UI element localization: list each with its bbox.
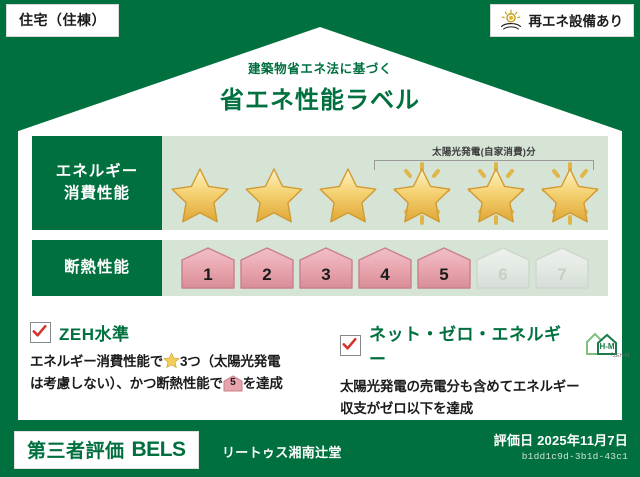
insulation-label-text: 断熱性能: [64, 257, 130, 279]
star-4: [386, 160, 458, 228]
evaluation-date: 評価日 2025年11月7日: [494, 430, 628, 449]
net-zero-title: ネット・ゼロ・エネルギー: [369, 320, 574, 370]
renewable-badge-text: 再エネ設備あり: [529, 10, 624, 30]
star-5: [460, 160, 532, 228]
bels-jp-text: 第三者評価: [27, 436, 125, 463]
criteria-section: ZEH水準 エネルギー消費性能で 3つ（太陽光発電 は考慮しない）、かつ断熱性能…: [0, 320, 640, 420]
label-title-block: 建築物省エネ法に基づく 省エネ性能ラベル: [0, 58, 640, 115]
star-2: [238, 160, 310, 228]
inline-grade-badge: 5: [223, 375, 243, 392]
net-zero-text-line2: 収支がゼロ以下を達成: [340, 401, 473, 416]
renewable-equipment-badge: 再エネ設備あり: [490, 4, 635, 37]
title-main: 省エネ性能ラベル: [0, 80, 640, 115]
zeh-star-count: 3つ（太陽光発電: [180, 354, 280, 369]
zeh-title: ZEH水準: [59, 320, 130, 345]
net-zero-text-line1: 太陽光発電の売電分も含めてエネルギー: [340, 379, 579, 394]
zeh-text-part1: エネルギー消費性能で: [30, 354, 163, 369]
property-name: リートゥス湘南辻堂: [222, 442, 342, 461]
insulation-grade-value: 1: [203, 265, 212, 290]
evaluation-date-label: 評価日: [494, 433, 534, 448]
insulation-grade-5: 5: [416, 246, 472, 290]
bels-badge: 第三者評価 BELS: [14, 431, 199, 469]
net-zero-checkbox: [340, 335, 361, 356]
title-subtitle: 建築物省エネ法に基づく: [0, 58, 640, 77]
criteria-zeh: ZEH水準 エネルギー消費性能で 3つ（太陽光発電 は考慮しない）、かつ断熱性能…: [30, 320, 330, 420]
evaluation-date-value: 2025年11月7日: [537, 433, 628, 448]
insulation-grade-1: 1: [180, 246, 236, 290]
insulation-grade-3: 3: [298, 246, 354, 290]
star-1: [164, 160, 236, 228]
insulation-grade-value: 4: [380, 265, 389, 290]
net-zero-description: 太陽光発電の売電分も含めてエネルギー 収支がゼロ以下を達成: [340, 376, 630, 420]
energy-label-line2: 消費性能: [64, 183, 130, 205]
check-icon: [32, 324, 47, 339]
insulation-grade-6: 6: [475, 246, 531, 290]
insulation-grade-7: 7: [534, 246, 590, 290]
insulation-grade-value: 5: [439, 265, 448, 290]
criteria-net-zero: ネット・ゼロ・エネルギー H-M 「ZEH-M」 太陽光発電の売電分も含めてエネ…: [340, 320, 630, 420]
insulation-grade-value: 7: [557, 265, 566, 290]
solar-bracket-note: 太陽光発電(自家消費)分: [370, 144, 598, 158]
zeh-text-part2: は考慮しない）、かつ断熱性能で: [30, 376, 223, 391]
sun-icon: [499, 9, 523, 31]
inline-star-icon: [163, 352, 180, 369]
insulation-grade-scale: 1234567: [162, 240, 608, 296]
bels-en-text: BELS: [132, 438, 186, 462]
criteria-zeh-header: ZEH水準: [30, 320, 330, 345]
energy-performance-label-cell: エネルギー 消費性能: [32, 136, 162, 230]
insulation-grade-value: 2: [262, 265, 271, 290]
check-icon: [342, 337, 357, 352]
zeh-m-logo-caption: 「ZEH-M」: [608, 353, 630, 359]
building-type-tag: 住宅（住棟）: [6, 4, 119, 37]
insulation-performance-row: 断熱性能 1234567: [32, 240, 608, 296]
inline-grade-value: 5: [223, 375, 243, 392]
evaluation-id: b1dd1c9d-3b1d-43c1: [494, 451, 628, 462]
star-3: [312, 160, 384, 228]
insulation-label-cell: 断熱性能: [32, 240, 162, 296]
insulation-grade-2: 2: [239, 246, 295, 290]
insulation-grade-value: 3: [321, 265, 330, 290]
insulation-value-cell: 1234567: [162, 240, 608, 296]
criteria-net-zero-header: ネット・ゼロ・エネルギー H-M 「ZEH-M」: [340, 320, 630, 370]
zeh-m-logo-icon: H-M 「ZEH-M」: [584, 330, 630, 360]
evaluation-info: 評価日 2025年11月7日 b1dd1c9d-3b1d-43c1: [494, 430, 628, 462]
energy-performance-row: エネルギー 消費性能 太陽光発電(自家消費)分: [32, 136, 608, 230]
zeh-description: エネルギー消費性能で 3つ（太陽光発電 は考慮しない）、かつ断熱性能で 5 を達…: [30, 351, 330, 395]
insulation-grade-4: 4: [357, 246, 413, 290]
insulation-grade-value: 6: [498, 265, 507, 290]
energy-performance-label: 住宅（住棟） 再エネ設備あり 建築物省エネ法に基づく 省エネ性能ラベル エネルギ…: [0, 0, 640, 477]
zeh-m-logo-label: H-M: [599, 342, 614, 351]
footer: 第三者評価 BELS リートゥス湘南辻堂 評価日 2025年11月7日 b1dd…: [0, 420, 640, 477]
star-6: [534, 160, 606, 228]
zeh-text-part3: を達成: [243, 376, 283, 391]
zeh-checkbox: [30, 322, 51, 343]
star-rating: [162, 160, 608, 228]
energy-performance-value-cell: 太陽光発電(自家消費)分: [162, 136, 608, 230]
energy-label-line1: エネルギー: [56, 161, 139, 183]
building-type-text: 住宅（住棟）: [19, 12, 106, 28]
